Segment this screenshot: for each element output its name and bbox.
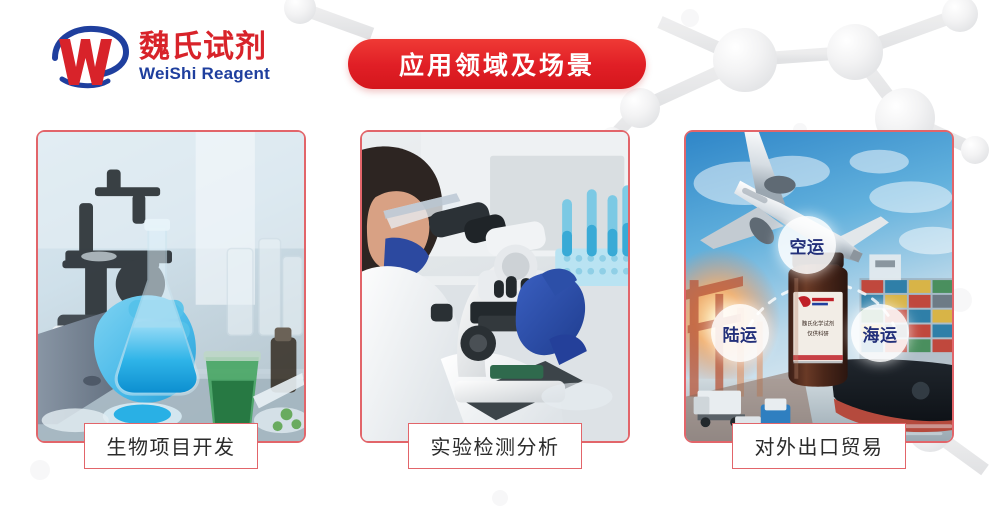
air-freight-label: 空运 bbox=[790, 233, 825, 258]
bottle-label-line2: 仅供科研 bbox=[807, 329, 829, 337]
microscope-analysis-photo bbox=[362, 132, 628, 441]
application-scenario-cards: 生物项目开发 bbox=[36, 130, 954, 475]
land-freight-label: 陆运 bbox=[723, 321, 758, 346]
card-caption-box: 实验检测分析 bbox=[408, 423, 582, 469]
land-freight-badge: 陆运 bbox=[711, 304, 769, 362]
scenario-card-export-trade[interactable]: 魏氏化学试剂 仅供科研 空运 陆运 海运 对外出口贸易 bbox=[684, 130, 954, 443]
brand-name-cn: 魏氏试剂 bbox=[139, 31, 270, 63]
page-title: 应用领域及场景 bbox=[399, 46, 595, 82]
brand-logo-text: 魏氏试剂 WeiShi Reagent bbox=[139, 31, 270, 85]
weishi-w-swoosh-logo-icon bbox=[46, 25, 130, 91]
sea-freight-badge: 海运 bbox=[851, 304, 909, 362]
bottle-label-line1: 魏氏化学试剂 bbox=[802, 319, 834, 327]
sea-freight-label: 海运 bbox=[863, 321, 898, 346]
card-caption-text: 生物项目开发 bbox=[107, 435, 236, 459]
scenario-card-lab-analysis[interactable]: 实验检测分析 bbox=[360, 130, 630, 443]
card-caption-box: 生物项目开发 bbox=[84, 423, 258, 469]
scenario-card-bio-project[interactable]: 生物项目开发 bbox=[36, 130, 306, 443]
bio-lab-photo bbox=[38, 132, 304, 441]
card-caption-box: 对外出口贸易 bbox=[732, 423, 906, 469]
card-caption-text: 实验检测分析 bbox=[431, 435, 560, 459]
card-caption-text: 对外出口贸易 bbox=[755, 435, 884, 459]
air-freight-badge: 空运 bbox=[778, 216, 836, 274]
brand-logo[interactable]: 魏氏试剂 WeiShi Reagent bbox=[46, 22, 276, 94]
promo-banner: 魏氏试剂 WeiShi Reagent 应用领域及场景 bbox=[0, 0, 990, 513]
logistics-photo: 魏氏化学试剂 仅供科研 bbox=[686, 132, 952, 441]
brand-name-en: WeiShi Reagent bbox=[139, 64, 270, 84]
section-title-banner: 应用领域及场景 bbox=[348, 39, 646, 89]
